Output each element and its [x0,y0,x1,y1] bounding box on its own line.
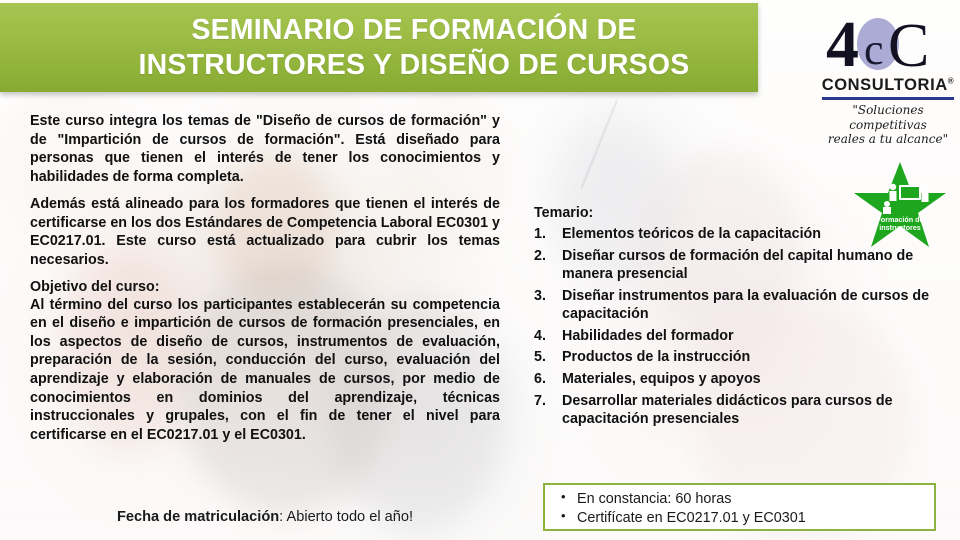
list-item: 6.Materiales, equipos y apoyos [534,370,934,389]
enrollment-line: Fecha de matriculación: Abierto todo el … [30,509,500,525]
intro-paragraph-2: Además está alineado para los formadores… [30,195,500,269]
info-box-list: En constancia: 60 horas Certifícate en E… [559,490,934,527]
list-item-number: 7. [534,392,554,411]
page-title-line-1: SEMINARIO DE FORMACIÓN DE [191,14,636,46]
logo-company-name-text: CONSULTORIA [822,76,948,94]
enrollment-value: : Abierto todo el año! [279,509,413,525]
logo-trademark: ® [948,77,955,86]
right-text-column: Temario: 1.Elementos teóricos de la capa… [534,205,934,432]
list-item: 3.Diseñar instrumentos para la evaluació… [534,287,934,324]
info-box-item-certification: Certifícate en EC0217.01 y EC0301 [559,509,934,528]
list-item-number: 2. [534,247,554,266]
page-title: SEMINARIO DE FORMACIÓN DE INSTRUCTORES Y… [59,13,700,83]
logo-4cc-icon: 4 c C [820,4,956,80]
list-item: 7.Desarrollar materiales didácticos para… [534,392,934,429]
objective-label: Objetivo del curso: [30,279,500,295]
list-item-number: 6. [534,370,554,389]
logo-slogan-line-1: "Soluciones competitivas [849,103,927,132]
company-logo: 4 c C CONSULTORIA® "Soluciones competiti… [820,4,956,147]
logo-slogan: "Soluciones competitivas reales a tu alc… [820,103,956,147]
logo-4cc-mark: 4 c C [820,4,956,80]
logo-divider [822,97,954,100]
list-item: 1.Elementos teóricos de la capacitación [534,225,934,244]
list-item-label: Productos de la instrucción [562,349,750,365]
list-item-label: Diseñar cursos de formación del capital … [562,248,913,283]
list-item-label: Habilidades del formador [562,328,734,344]
logo-company-name: CONSULTORIA® [820,76,956,95]
left-text-column: Este curso integra los temas de "Diseño … [30,112,500,453]
enrollment-label: Fecha de matriculación [117,509,279,525]
info-box: En constancia: 60 horas Certifícate en E… [543,483,936,531]
page-title-line-2: INSTRUCTORES Y DISEÑO DE CURSOS [139,49,690,81]
temario-title: Temario: [534,205,934,221]
temario-list: 1.Elementos teóricos de la capacitación … [534,225,934,429]
list-item-label: Desarrollar materiales didácticos para c… [562,393,893,428]
svg-text:c: c [864,25,884,74]
svg-text:C: C [888,12,929,80]
svg-text:4: 4 [826,8,859,80]
list-item-label: Diseñar instrumentos para la evaluación … [562,288,929,323]
list-item: 2.Diseñar cursos de formación del capita… [534,247,934,284]
list-item-number: 5. [534,348,554,367]
list-item: 5.Productos de la instrucción [534,348,934,367]
logo-slogan-line-2: reales a tu alcance" [828,132,948,146]
objective-paragraph: Al término del curso los participantes e… [30,296,500,445]
list-item-number: 4. [534,327,554,346]
slide: SEMINARIO DE FORMACIÓN DE INSTRUCTORES Y… [0,0,960,540]
list-item: 4.Habilidades del formador [534,327,934,346]
list-item-label: Elementos teóricos de la capacitación [562,226,821,242]
info-box-item-duration: En constancia: 60 horas [559,490,934,509]
list-item-number: 3. [534,287,554,306]
list-item-label: Materiales, equipos y apoyos [562,371,761,387]
title-banner: SEMINARIO DE FORMACIÓN DE INSTRUCTORES Y… [0,3,758,92]
list-item-number: 1. [534,225,554,244]
intro-paragraph-1: Este curso integra los temas de "Diseño … [30,112,500,186]
